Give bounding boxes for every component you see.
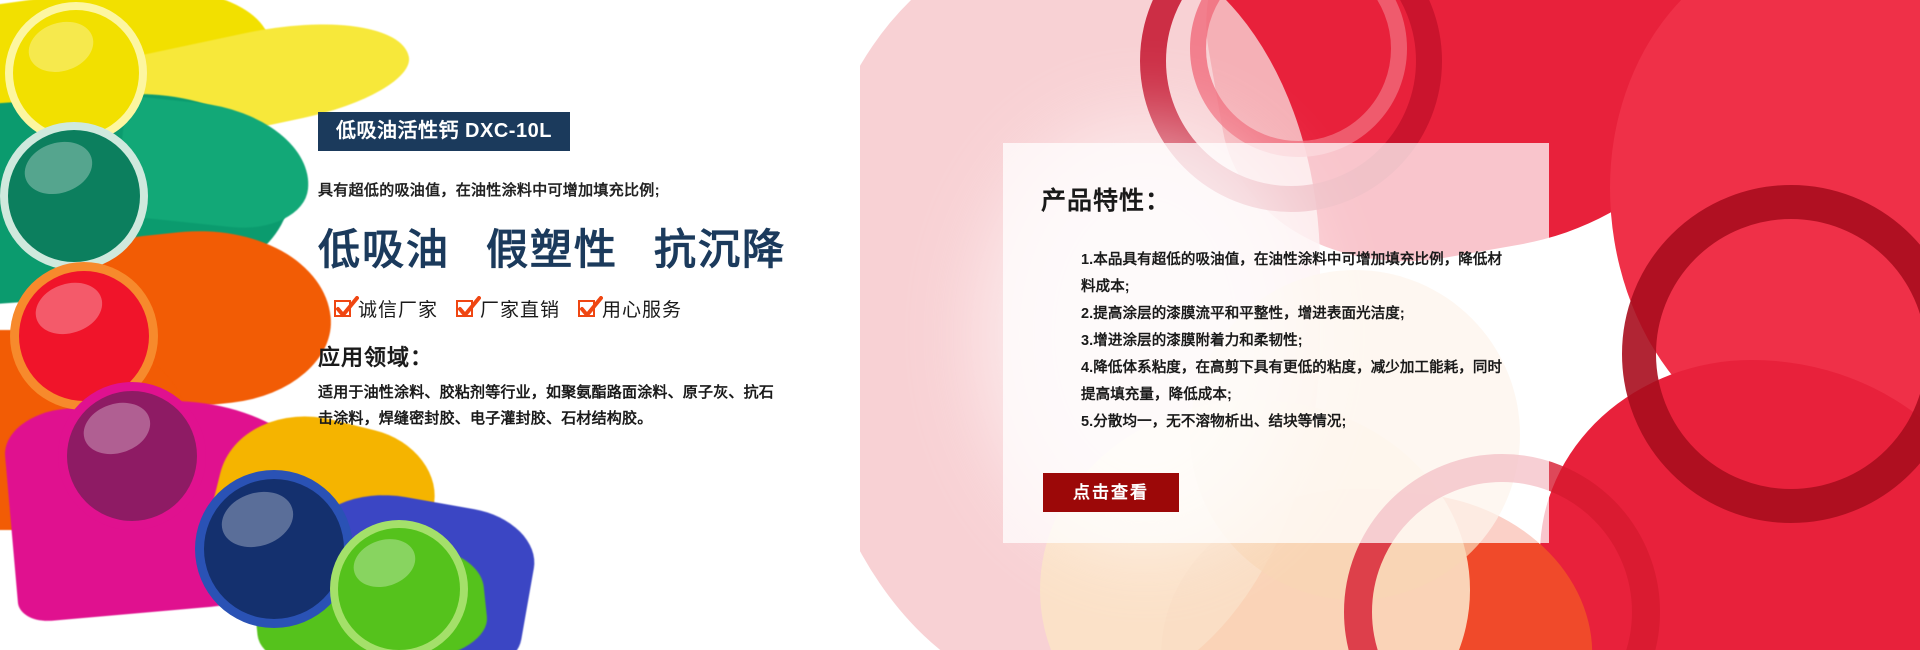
feature-tag-label-2: 厂家直销 bbox=[480, 295, 560, 322]
application-title: 应用领域： bbox=[318, 340, 838, 372]
feature-tag-3: 用心服务 bbox=[578, 295, 682, 322]
feature-tag-label-1: 诚信厂家 bbox=[358, 295, 438, 322]
checkbox-checked-icon bbox=[456, 300, 473, 317]
characteristics-list: 1.本品具有超低的吸油值，在油性涂料中可增加填充比例，降低材料成本; 2.提高涂… bbox=[1041, 247, 1515, 436]
headline-keyword-1: 低吸油 bbox=[318, 216, 450, 277]
paint-pot-navy bbox=[204, 479, 344, 619]
list-item: 4.降低体系粘度，在高剪下具有更低的粘度，减少加工能耗，同时提高填充量，降低成本… bbox=[1081, 355, 1515, 409]
headline-keyword-2: 假塑性 bbox=[486, 216, 618, 277]
checkbox-checked-icon bbox=[578, 300, 595, 317]
panel-title: 产品特性： bbox=[1041, 181, 1515, 217]
list-item: 5.分散均一，无不溶物析出、结块等情况; bbox=[1081, 409, 1515, 436]
product-banner: 低吸油活性钙 DXC-10L 具有超低的吸油值，在油性涂料中可增加填充比例; 低… bbox=[0, 0, 1920, 650]
paint-pot-yellow bbox=[13, 10, 139, 136]
list-item: 3.增进涂层的漆膜附着力和柔韧性; bbox=[1081, 328, 1515, 355]
feature-tag-1: 诚信厂家 bbox=[334, 295, 438, 322]
product-characteristics-panel: 产品特性： 1.本品具有超低的吸油值，在油性涂料中可增加填充比例，降低材料成本;… bbox=[1003, 143, 1549, 543]
list-item: 1.本品具有超低的吸油值，在油性涂料中可增加填充比例，降低材料成本; bbox=[1081, 247, 1515, 301]
paint-pot-lime bbox=[338, 528, 460, 650]
headline-keywords: 低吸油 假塑性 抗沉降 bbox=[318, 216, 838, 277]
product-name-tag: 低吸油活性钙 DXC-10L bbox=[318, 112, 570, 151]
list-item: 2.提高涂层的漆膜流平和平整性，增进表面光洁度; bbox=[1081, 301, 1515, 328]
view-details-button[interactable]: 点击查看 bbox=[1043, 473, 1179, 512]
checkbox-checked-icon bbox=[334, 300, 351, 317]
paint-pot-green bbox=[8, 130, 140, 262]
feature-tag-2: 厂家直销 bbox=[456, 295, 560, 322]
feature-tags-row: 诚信厂家 厂家直销 用心服务 bbox=[334, 295, 838, 322]
application-body: 适用于油性涂料、胶粘剂等行业，如聚氨酯路面涂料、原子灰、抗石击涂料，焊缝密封胶、… bbox=[318, 380, 788, 432]
paint-pot-magenta bbox=[67, 391, 197, 521]
product-lead-line: 具有超低的吸油值，在油性涂料中可增加填充比例; bbox=[318, 179, 838, 200]
feature-tag-label-3: 用心服务 bbox=[602, 295, 682, 322]
headline-keyword-3: 抗沉降 bbox=[654, 216, 786, 277]
left-content-block: 低吸油活性钙 DXC-10L 具有超低的吸油值，在油性涂料中可增加填充比例; 低… bbox=[318, 112, 838, 432]
